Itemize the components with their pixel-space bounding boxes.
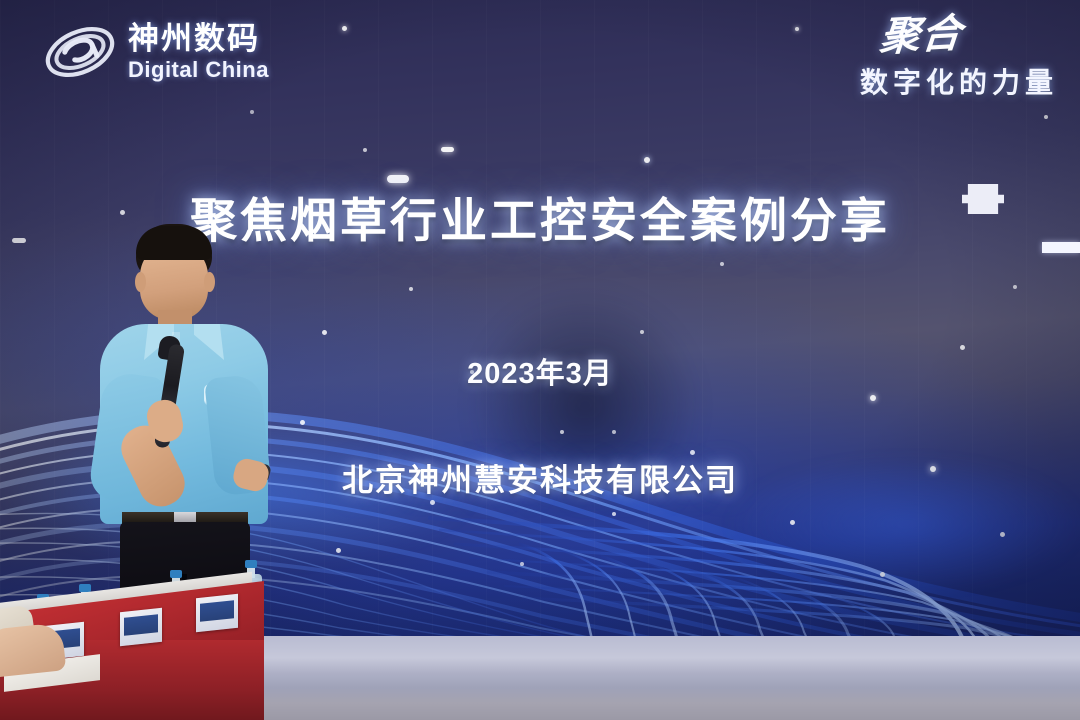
brand-name-cn: 神州数码 [128,23,269,54]
screen-edge-marker [1042,242,1080,253]
brand-name-en: Digital China [128,59,269,81]
speaker-ear-left [135,272,146,292]
speaker-ear-right [204,272,215,292]
screen-edge-glyph [962,184,1004,214]
digital-china-swirl-icon [42,16,118,88]
stage-photo: 神州数码 Digital China 聚合 数字化的力量 聚焦烟草行业工控安全案… [0,0,1080,720]
speaker-hairline [136,226,212,260]
list-item [196,594,238,632]
bottle-cap [245,560,257,568]
brand-logo: 神州数码 Digital China [42,16,269,88]
slogan-brush-text: 聚合 [858,13,964,57]
name-card-strip [124,614,158,636]
slogan-subtitle: 数字化的力量 [860,61,1058,101]
event-slogan: 聚合 数字化的力量 [860,16,1058,101]
list-item [120,608,162,646]
name-card-strip [200,600,234,622]
bottle-cap [170,570,182,578]
